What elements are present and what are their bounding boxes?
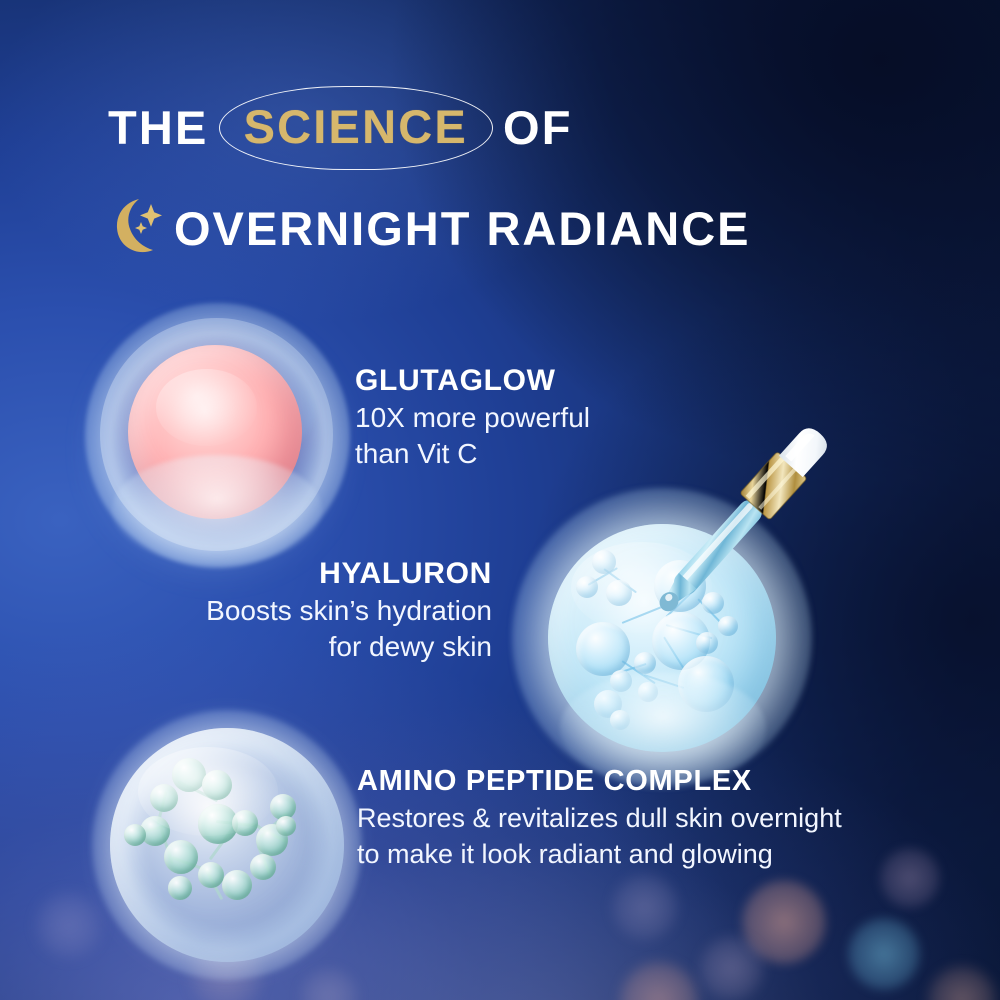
green-sphere-body bbox=[110, 728, 344, 962]
ingredient-body-line-2: for dewy skin bbox=[0, 629, 492, 665]
ingredient-title-amino-peptide-complex: AMINO PEPTIDE COMPLEX bbox=[357, 762, 842, 800]
crescent-moon-with-stars-icon bbox=[106, 195, 168, 261]
science-badge-label: SCIENCE bbox=[244, 99, 468, 154]
ingredient-body-line-1: 10X more powerful bbox=[355, 400, 590, 436]
pink-sphere-base-glow bbox=[112, 455, 322, 565]
ingredient-body-line-2: to make it look radiant and glowing bbox=[357, 836, 842, 872]
ingredient-block-glutaglow: GLUTAGLOW 10X more powerful than Vit C bbox=[355, 362, 590, 472]
headline-of: OF bbox=[503, 100, 573, 155]
ingredient-body-line-1: Boosts skin’s hydration bbox=[0, 593, 492, 629]
ingredient-body-line-2: than Vit C bbox=[355, 436, 590, 472]
ingredient-block-hyaluron: HYALURON Boosts skin’s hydration for dew… bbox=[0, 555, 492, 665]
ingredient-block-amino-peptide-complex: AMINO PEPTIDE COMPLEX Restores & revital… bbox=[357, 762, 842, 872]
headline-line-2: OVERNIGHT RADIANCE bbox=[106, 195, 751, 261]
ingredient-title-glutaglow: GLUTAGLOW bbox=[355, 362, 590, 400]
headline-the: THE bbox=[108, 100, 209, 155]
science-badge: SCIENCE bbox=[223, 95, 489, 160]
headline-overnight-radiance: OVERNIGHT RADIANCE bbox=[174, 201, 751, 256]
headline-line-1: THE SCIENCE OF bbox=[108, 95, 573, 160]
ingredient-title-hyaluron: HYALURON bbox=[0, 555, 492, 593]
ingredient-body-line-1: Restores & revitalizes dull skin overnig… bbox=[357, 800, 842, 836]
infographic-canvas: THE SCIENCE OF OVERNIGHT RADIANCE bbox=[0, 0, 1000, 1000]
serum-dropper-pipette-icon bbox=[648, 404, 848, 634]
